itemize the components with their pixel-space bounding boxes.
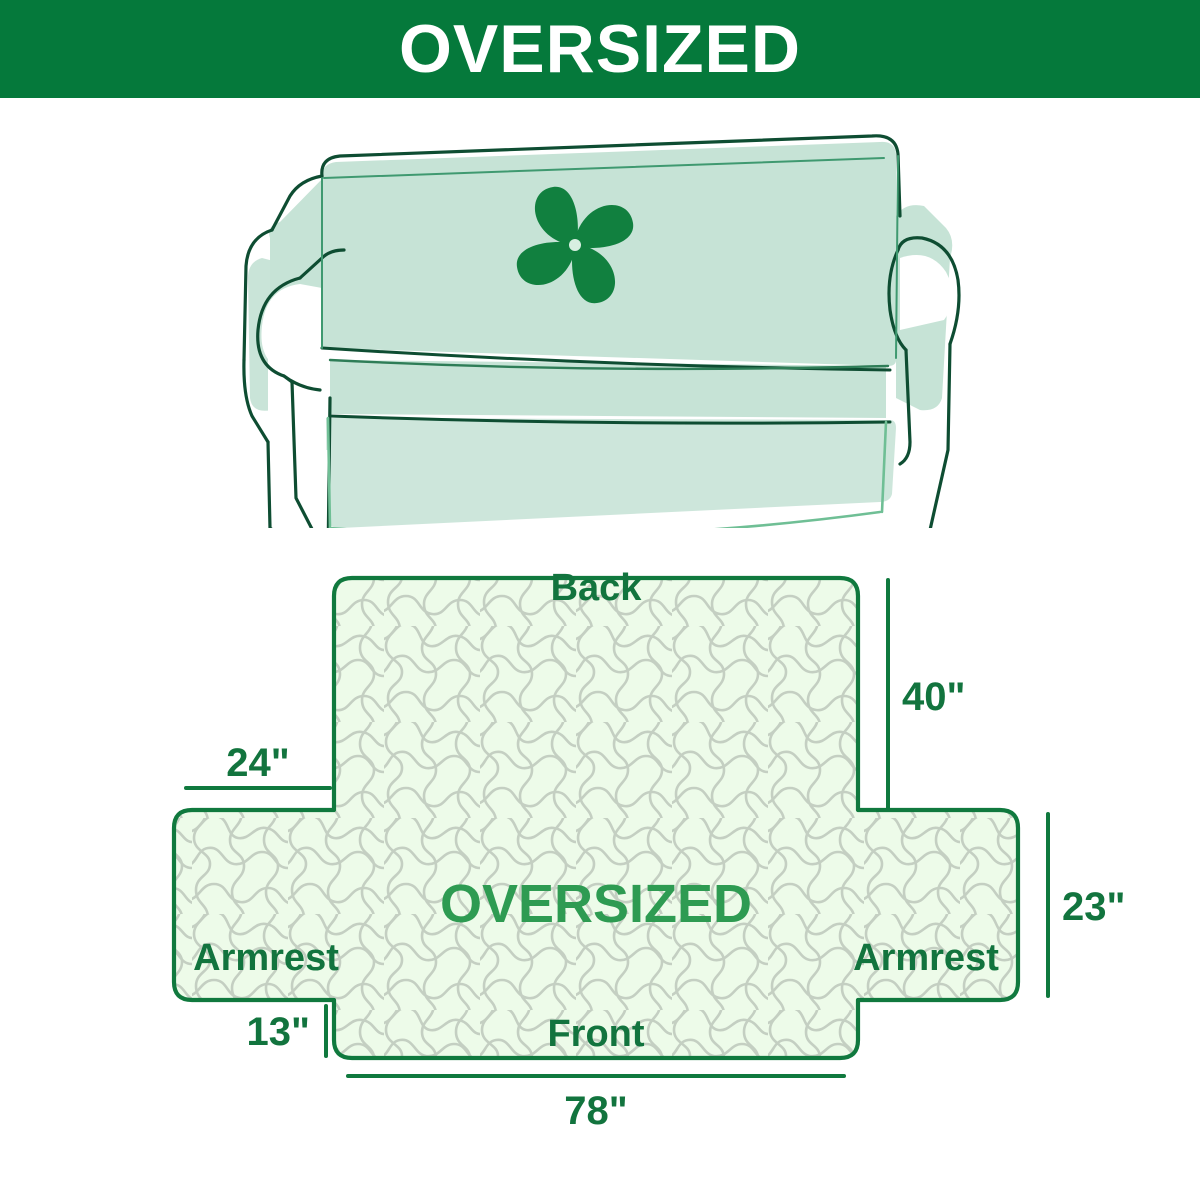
dimension-label-front-width: 78": [564, 1089, 627, 1133]
label-back: Back: [551, 567, 643, 609]
pattern-diagram: Back Front Armrest Armrest OVERSIZED 40"…: [0, 530, 1200, 1200]
slipcover-pattern-shape: [174, 578, 1018, 1058]
dimension-label-front-drop: 13": [247, 1010, 310, 1054]
sofa-illustration: [0, 98, 1200, 528]
label-armrest-left: Armrest: [193, 937, 339, 979]
dimension-label-back-height: 40": [902, 675, 965, 719]
label-front: Front: [547, 1013, 644, 1055]
label-armrest-right: Armrest: [853, 937, 999, 979]
label-size-oversized: OVERSIZED: [440, 874, 752, 934]
dimension-label-back-offset: 24": [226, 741, 289, 785]
page-title: OVERSIZED: [399, 15, 801, 83]
sofa-drawing: [244, 136, 959, 528]
header-banner: OVERSIZED: [0, 0, 1200, 98]
slipcover-fill: [248, 142, 952, 528]
dimension-label-armrest-height: 23": [1062, 885, 1125, 929]
